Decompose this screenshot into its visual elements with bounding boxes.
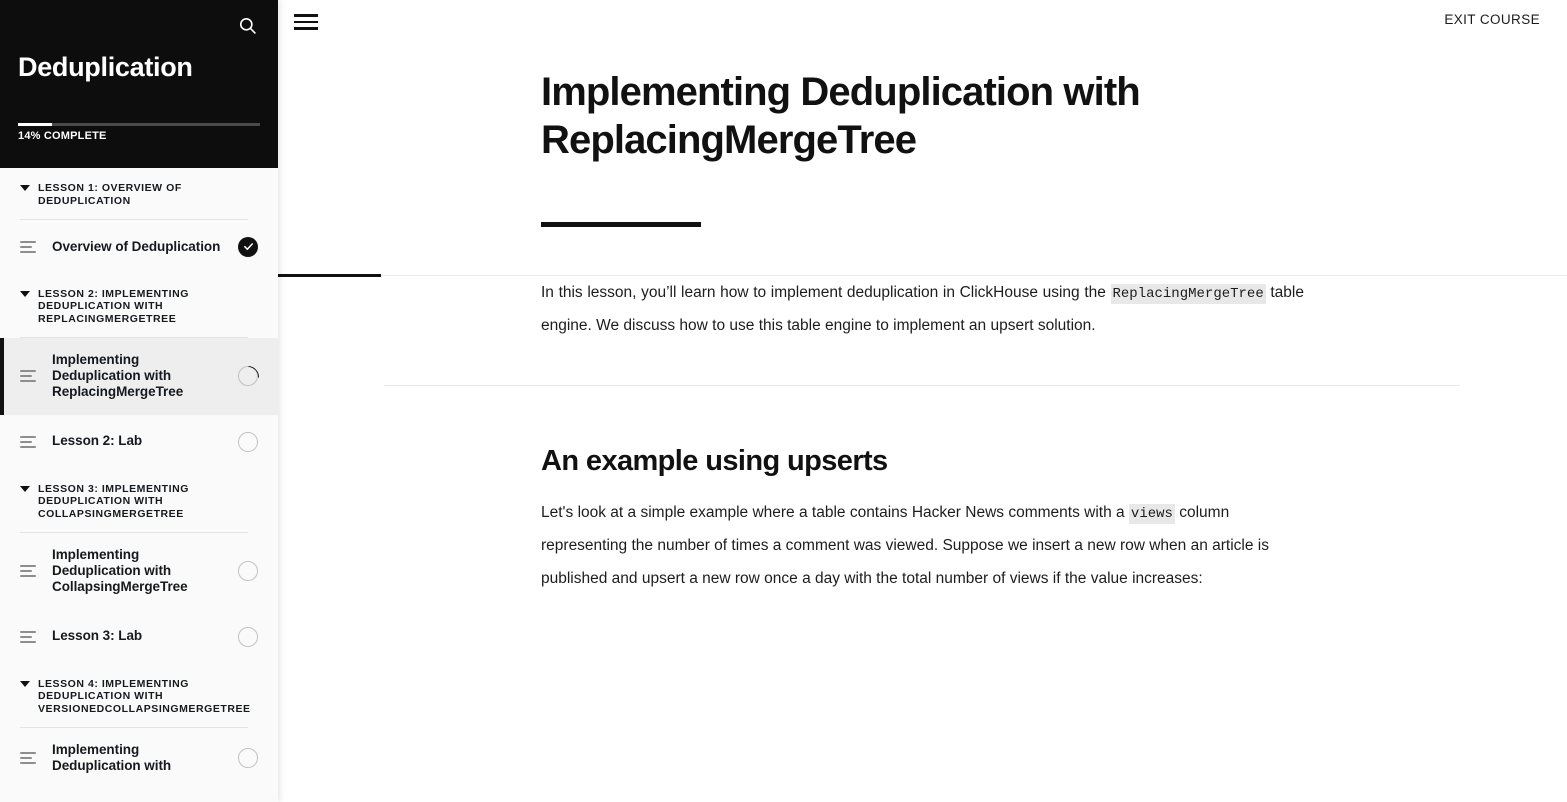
course-sidebar: Deduplication 14% COMPLETE LESSON 1: OVE…: [0, 0, 278, 802]
main-content: EXIT COURSE Implementing Deduplication w…: [278, 0, 1567, 802]
lesson-item-label: Implementing Deduplication with: [52, 742, 224, 774]
lesson-section-header-3[interactable]: LESSON 3: IMPLEMENTING DEDUPLICATION WIT…: [0, 469, 278, 532]
lesson-status-todo-icon[interactable]: [238, 561, 258, 581]
chevron-down-icon: [20, 681, 30, 687]
hamburger-menu-icon[interactable]: [294, 12, 318, 32]
inline-code-replacingmergetree: ReplacingMergeTree: [1111, 284, 1266, 304]
lesson-lines-icon: [20, 436, 38, 448]
course-progress-label: 14% COMPLETE: [18, 130, 107, 142]
lesson-section-label: LESSON 3: IMPLEMENTING DEDUPLICATION WIT…: [38, 483, 258, 521]
sidebar-header: Deduplication 14% COMPLETE: [0, 0, 278, 168]
lesson-item[interactable]: Implementing Deduplication with: [0, 728, 278, 788]
lesson-lines-icon: [20, 565, 38, 577]
course-title: Deduplication: [18, 52, 193, 83]
chevron-down-icon: [20, 291, 30, 297]
chevron-down-icon: [20, 486, 30, 492]
course-progress-fill: [18, 123, 52, 126]
lesson-item[interactable]: Lesson 3: Lab: [0, 610, 278, 664]
lesson-item[interactable]: Overview of Deduplication: [0, 220, 278, 274]
lesson-status-done-icon[interactable]: [238, 237, 258, 257]
page-title: Implementing Deduplication with Replacin…: [541, 68, 1241, 164]
chevron-down-icon: [20, 185, 30, 191]
lesson-section-header-2[interactable]: LESSON 2: IMPLEMENTING DEDUPLICATION WIT…: [0, 274, 278, 337]
section-heading: An example using upserts: [541, 445, 1304, 478]
course-progress-bar: [18, 123, 260, 126]
lesson-item[interactable]: Lesson 2: Lab: [0, 415, 278, 469]
lesson-lines-icon: [20, 752, 38, 764]
lesson-status-todo-icon[interactable]: [238, 627, 258, 647]
upserts-paragraph: Let's look at a simple example where a t…: [541, 496, 1304, 596]
lesson-section-label: LESSON 1: OVERVIEW OF DEDUPLICATION: [38, 182, 258, 208]
course-player: Deduplication 14% COMPLETE LESSON 1: OVE…: [0, 0, 1567, 802]
lesson-section-label: LESSON 2: IMPLEMENTING DEDUPLICATION WIT…: [38, 288, 258, 326]
exit-course-button[interactable]: EXIT COURSE: [1444, 12, 1540, 27]
lesson-item-label: Implementing Deduplication with Replacin…: [52, 352, 224, 401]
inline-code-views: views: [1129, 504, 1175, 524]
top-bar: EXIT COURSE: [278, 0, 1567, 46]
lesson-status-progress-icon[interactable]: [238, 366, 258, 386]
search-icon[interactable]: [234, 12, 260, 38]
lesson-section-header-1[interactable]: LESSON 1: OVERVIEW OF DEDUPLICATION: [0, 168, 278, 219]
title-accent-bar: [541, 222, 701, 227]
lesson-hero: Implementing Deduplication with Replacin…: [278, 46, 1567, 227]
lesson-lines-icon: [20, 241, 38, 253]
lesson-item-label: Overview of Deduplication: [52, 239, 224, 255]
intro-block: In this lesson, you’ll learn how to impl…: [541, 276, 1304, 343]
lesson-section-header-4[interactable]: LESSON 4: IMPLEMENTING DEDUPLICATION WIT…: [0, 664, 278, 727]
section-divider: [384, 385, 1460, 386]
lesson-item-label: Lesson 2: Lab: [52, 433, 224, 449]
lesson-item-label: Implementing Deduplication with Collapsi…: [52, 547, 224, 596]
lesson-item[interactable]: Implementing Deduplication with Collapsi…: [0, 533, 278, 610]
lesson-status-todo-icon[interactable]: [238, 432, 258, 452]
lesson-item-label: Lesson 3: Lab: [52, 628, 224, 644]
lesson-lines-icon: [20, 631, 38, 643]
lesson-lines-icon: [20, 370, 38, 382]
lesson-list: LESSON 1: OVERVIEW OF DEDUPLICATIONOverv…: [0, 168, 278, 788]
lesson-item[interactable]: Implementing Deduplication with Replacin…: [0, 338, 278, 415]
lesson-section-label: LESSON 4: IMPLEMENTING DEDUPLICATION WIT…: [38, 678, 258, 716]
intro-paragraph: In this lesson, you’ll learn how to impl…: [541, 276, 1304, 343]
lesson-body: In this lesson, you’ll learn how to impl…: [278, 276, 1567, 596]
upserts-block: An example using upserts Let's look at a…: [541, 445, 1304, 596]
lesson-status-todo-icon[interactable]: [238, 748, 258, 768]
